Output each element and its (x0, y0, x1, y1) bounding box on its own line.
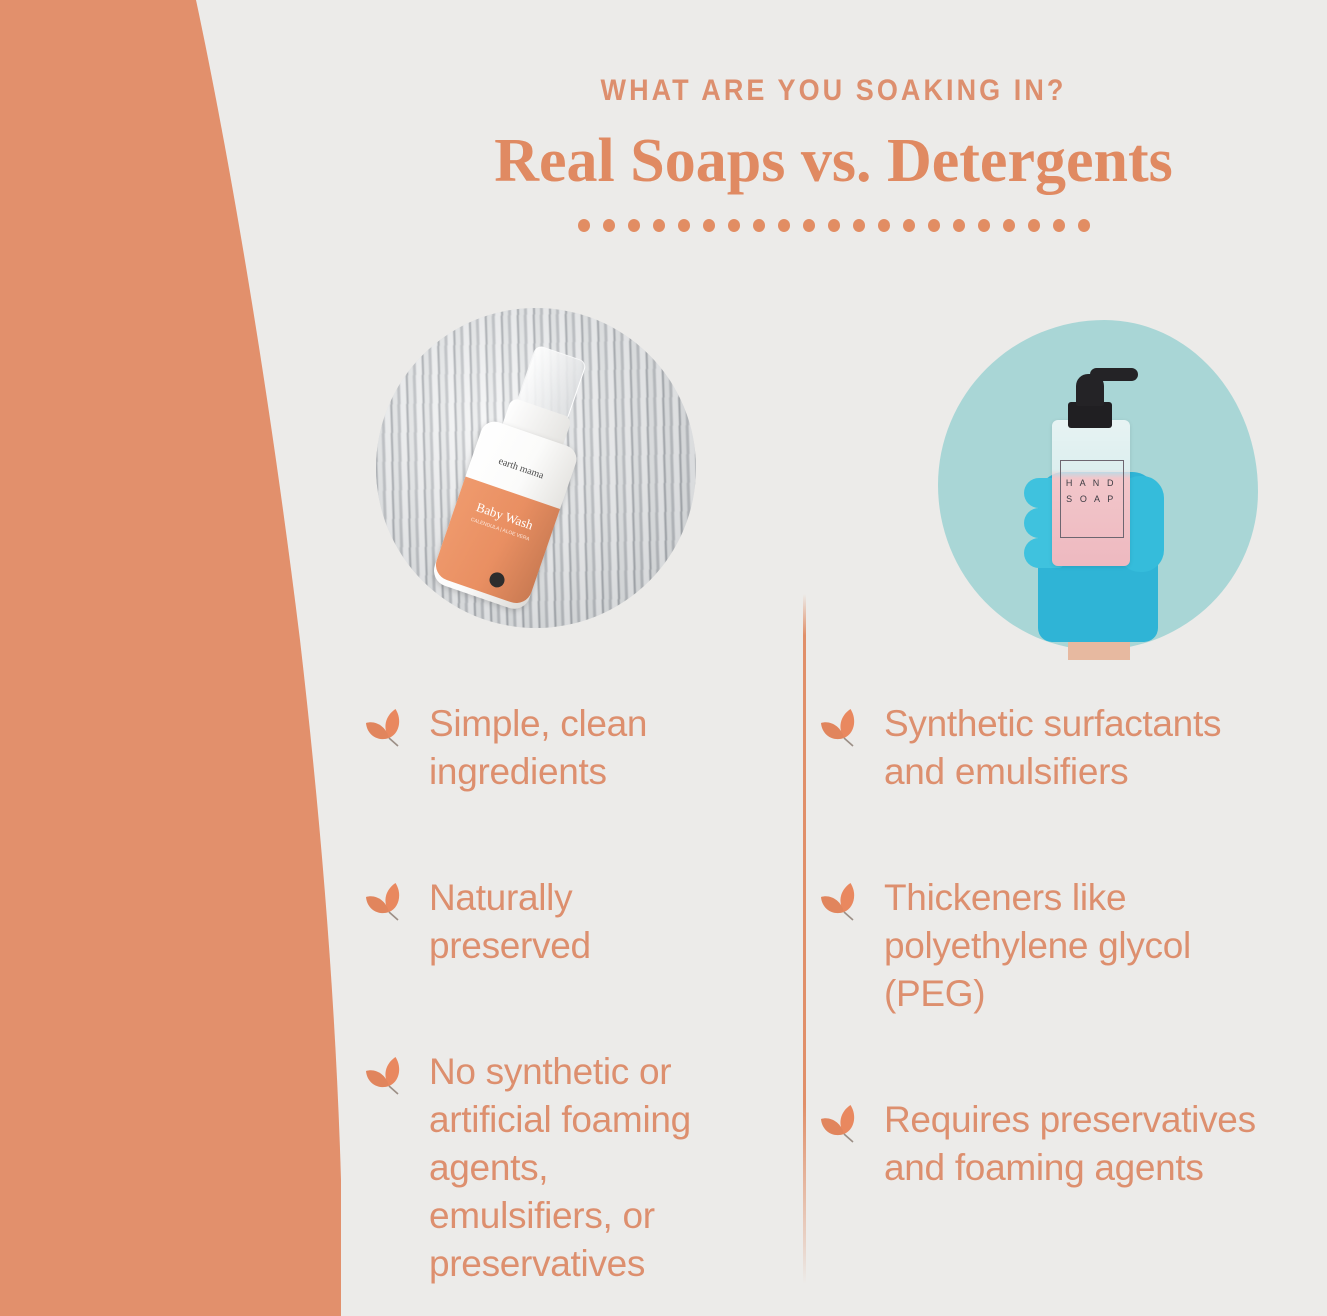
divider-dot (903, 219, 915, 232)
pump-spout (1090, 368, 1138, 381)
divider-dot (703, 219, 715, 232)
divider-dot (828, 219, 840, 232)
divider-dot (803, 219, 815, 232)
leaf-icon (365, 706, 411, 750)
divider-dot (978, 219, 990, 232)
leaf-icon (820, 1102, 866, 1146)
real-soaps-column: Simple, clean ingredients Naturally pres… (340, 700, 795, 1316)
divider-dot (728, 219, 740, 232)
divider-dot (653, 219, 665, 232)
page-title: Real Soaps vs. Detergents (340, 126, 1327, 197)
kicker-text: WHAT ARE YOU SOAKING IN? (389, 74, 1277, 108)
list-item-label: Requires preservatives and foaming agent… (884, 1096, 1264, 1192)
leaf-icon (365, 1054, 411, 1098)
orange-accent-shape (0, 0, 360, 1316)
divider-dot (878, 219, 890, 232)
divider-dot (853, 219, 865, 232)
divider-dot (678, 219, 690, 232)
list-item: No synthetic or artificial foaming agent… (365, 1048, 795, 1288)
list-item-label: Naturally preserved (429, 874, 679, 970)
header: WHAT ARE YOU SOAKING IN? Real Soaps vs. … (340, 0, 1327, 232)
list-item-label: Synthetic surfactants and emulsifiers (884, 700, 1264, 796)
divider-dot (778, 219, 790, 232)
infographic-canvas: WHAT ARE YOU SOAKING IN? Real Soaps vs. … (0, 0, 1327, 1316)
divider-dot (1003, 219, 1015, 232)
divider-dot (753, 219, 765, 232)
divider-dot (1053, 219, 1065, 232)
list-item: Naturally preserved (365, 874, 795, 970)
leaf-icon (820, 880, 866, 924)
divider-dot (1028, 219, 1040, 232)
leaf-icon (820, 706, 866, 750)
list-item: Synthetic surfactants and emulsifiers (820, 700, 1327, 796)
list-item: Simple, clean ingredients (365, 700, 795, 796)
comparison-columns: Simple, clean ingredients Naturally pres… (340, 700, 1327, 1316)
leaf-icon (365, 880, 411, 924)
list-item-label: Thickeners like polyethylene glycol (PEG… (884, 874, 1264, 1018)
list-item: Requires preservatives and foaming agent… (820, 1096, 1327, 1192)
hand-soap-label-line1: H A N D (1060, 478, 1122, 488)
divider-dot (628, 219, 640, 232)
media-row: earth mama Baby Wash CALENDULA | ALOE VE… (340, 300, 1327, 660)
detergent-photo: H A N D S O A P (930, 312, 1270, 660)
list-item: Thickeners like polyethylene glycol (PEG… (820, 874, 1327, 1018)
hand-soap-label-line2: S O A P (1060, 494, 1122, 504)
divider-dot (953, 219, 965, 232)
divider-dot (1078, 219, 1090, 232)
detergents-column: Synthetic surfactants and emulsifiers Th… (795, 700, 1327, 1316)
list-item-label: Simple, clean ingredients (429, 700, 679, 796)
divider-dot (578, 219, 590, 232)
divider-dot (603, 219, 615, 232)
divider-dot (928, 219, 940, 232)
list-item-label: No synthetic or artificial foaming agent… (429, 1048, 739, 1288)
dot-divider (340, 219, 1327, 232)
real-soap-photo: earth mama Baby Wash CALENDULA | ALOE VE… (376, 308, 696, 628)
